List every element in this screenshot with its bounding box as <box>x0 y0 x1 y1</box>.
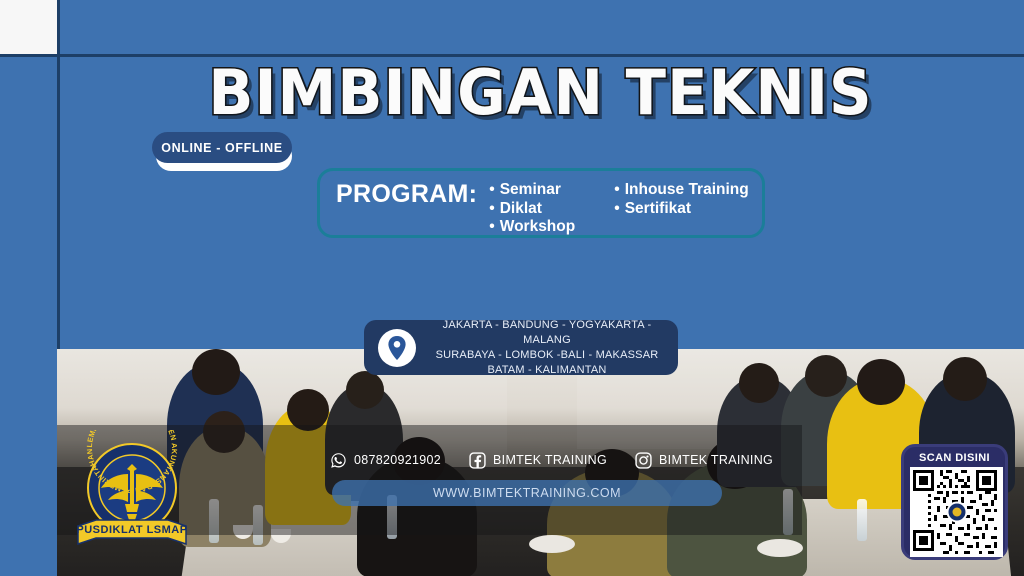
program-column-two: •Inhouse Training •Sertifikat <box>614 181 748 237</box>
participant-head <box>805 355 847 397</box>
contact-row: 087820921902 BIMTEK TRAINING BIMTEK TRAI… <box>330 447 750 473</box>
mode-badge: ONLINE - OFFLINE <box>152 132 292 166</box>
map-pin-icon <box>378 329 416 367</box>
program-box: PROGRAM: •Seminar •Diklat •Workshop •Inh… <box>317 168 765 238</box>
program-item-label: Inhouse Training <box>625 181 749 198</box>
qr-center-logo <box>946 502 967 523</box>
program-label: PROGRAM: <box>336 179 477 209</box>
locations-badge: JAKARTA - BANDUNG - YOGYAKARTA - MALANG … <box>364 320 678 375</box>
participant-head <box>192 349 240 395</box>
instagram-icon <box>635 452 652 469</box>
participant-head <box>943 357 987 401</box>
participant-head <box>739 363 779 403</box>
program-item-label: Sertifikat <box>625 200 691 217</box>
locations-text: JAKARTA - BANDUNG - YOGYAKARTA - MALANG … <box>428 318 678 378</box>
snack-plate <box>529 535 575 553</box>
promo-banner: BIMBINGAN TEKNIS ONLINE - OFFLINE PROGRA… <box>0 0 1024 576</box>
snack-plate <box>757 539 803 557</box>
locations-line: JAKARTA - BANDUNG - YOGYAKARTA - MALANG <box>428 318 666 348</box>
participant-head <box>857 359 905 405</box>
contact-instagram[interactable]: BIMTEK TRAINING <box>635 452 773 469</box>
facebook-icon <box>469 452 486 469</box>
contact-facebook[interactable]: BIMTEK TRAINING <box>469 452 607 469</box>
bullet-icon: • <box>614 181 619 198</box>
program-item: •Diklat <box>489 200 604 219</box>
program-item: •Sertifikat <box>614 200 748 219</box>
program-item: •Workshop <box>489 218 604 237</box>
corner-white-block <box>0 0 57 54</box>
bullet-icon: • <box>489 218 494 235</box>
contact-whatsapp[interactable]: 087820921902 <box>330 452 441 469</box>
qr-badge[interactable]: SCAN DISINI <box>901 444 1008 560</box>
program-columns: •Seminar •Diklat •Workshop •Inhouse Trai… <box>489 179 748 237</box>
water-bottle <box>857 499 867 541</box>
bullet-icon: • <box>614 200 619 217</box>
program-item: •Seminar <box>489 181 604 200</box>
contact-label: BIMTEK TRAINING <box>493 453 607 467</box>
mode-badge-label: ONLINE - OFFLINE <box>152 132 292 163</box>
qr-code-image <box>910 467 1003 557</box>
locations-line: SURABAYA - LOMBOK -BALI - MAKASSAR <box>428 348 666 363</box>
bullet-icon: • <box>489 200 494 217</box>
contact-label: BIMTEK TRAINING <box>659 453 773 467</box>
program-item-label: Seminar <box>500 181 561 198</box>
whatsapp-icon <box>330 452 347 469</box>
program-item-label: Diklat <box>500 200 542 217</box>
contact-label: 087820921902 <box>354 453 441 467</box>
qr-title: SCAN DISINI <box>910 451 999 465</box>
qr-center-emblem <box>952 508 961 517</box>
program-item-label: Workshop <box>500 218 576 235</box>
program-item: •Inhouse Training <box>614 181 748 200</box>
participant-head <box>346 371 384 409</box>
bullet-icon: • <box>489 181 494 198</box>
institution-emblem: LEMBAGA STUDI MANAJEMEN AKUNTANSI DAN PE… <box>74 430 190 560</box>
website-label: WWW.BIMTEKTRAINING.COM <box>433 486 621 500</box>
website-pill[interactable]: WWW.BIMTEKTRAINING.COM <box>332 480 722 506</box>
emblem-banner-text: PUSDIKLAT LSMAP <box>76 524 187 536</box>
program-column-one: •Seminar •Diklat •Workshop <box>489 181 604 237</box>
locations-line: BATAM - KALIMANTAN <box>428 363 666 378</box>
page-title: BIMBINGAN TEKNIS <box>28 57 1024 129</box>
